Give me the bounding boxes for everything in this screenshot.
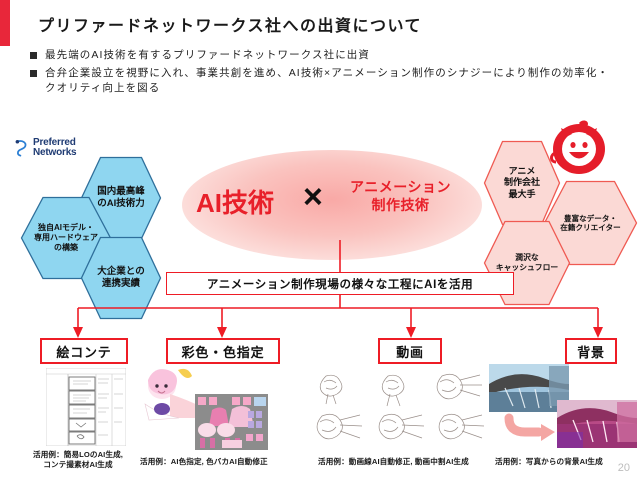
multiply-operator-icon: ×	[303, 180, 323, 214]
list-item: 最先端のAI技術を有するプリファードネットワークス社に出資	[30, 48, 620, 63]
bullet-text: 合弁企業設立を視野に入れ、事業共創を進め、AI技術×アニメーション制作のシナジー…	[45, 66, 620, 96]
hexagon-label: 大企業との 連携実績	[80, 236, 162, 320]
category-box-coloring: 彩色・色指定	[166, 338, 280, 364]
preferred-networks-logo: Preferred Networks	[14, 138, 76, 158]
page-number: 20	[618, 462, 630, 474]
thumbnail-photo-to-background	[489, 362, 637, 450]
slide-root: プリファードネットワークス社への出資について 最先端のAI技術を有するプリファー…	[0, 0, 640, 480]
pfn-logo-line2: Networks	[33, 148, 76, 158]
category-box-storyboard: 絵コンテ	[40, 338, 128, 364]
synergy-diagram: Preferred Networks 国内最高峰 のAI技術力 独自	[0, 128, 640, 328]
caption-inbetween: 活用例：動画線AI自動修正, 動画中割AI生成	[318, 457, 518, 467]
thumbnail-lineart-frames	[300, 368, 490, 448]
caption-storyboard: 活用例：簡易LOのAI生成, コンテ撮素材AI生成	[18, 450, 138, 471]
pfn-logo-text: Preferred Networks	[33, 138, 76, 158]
pfn-mark-icon	[14, 139, 30, 157]
middle-banner: アニメーション制作現場の様々な工程にAIを活用	[166, 272, 514, 295]
page-title: プリファードネットワークス社への出資について	[38, 12, 422, 36]
accent-bar	[0, 0, 10, 46]
bullet-square-icon	[30, 70, 37, 77]
list-item: 合弁企業設立を視野に入れ、事業共創を進め、AI技術×アニメーション制作のシナジー…	[30, 66, 620, 96]
category-box-background: 背景	[565, 338, 617, 364]
toei-cat-mascot-icon	[548, 120, 610, 178]
hexagon-pfn-strength-3: 大企業との 連携実績	[80, 236, 162, 320]
thumbnail-coloring	[140, 364, 268, 450]
bullet-text: 最先端のAI技術を有するプリファードネットワークス社に出資	[45, 48, 370, 63]
term-animation-production: アニメーション 制作技術	[338, 178, 463, 214]
category-box-inbetween: 動画	[378, 338, 442, 364]
term-ai-technology: AI技術	[196, 183, 274, 220]
bullet-list: 最先端のAI技術を有するプリファードネットワークス社に出資 合弁企業設立を視野に…	[30, 48, 620, 100]
caption-coloring: 活用例：AI色指定, 色バカAI自動修正	[140, 457, 320, 467]
bullet-square-icon	[30, 52, 37, 59]
thumbnail-storyboard	[46, 368, 126, 446]
